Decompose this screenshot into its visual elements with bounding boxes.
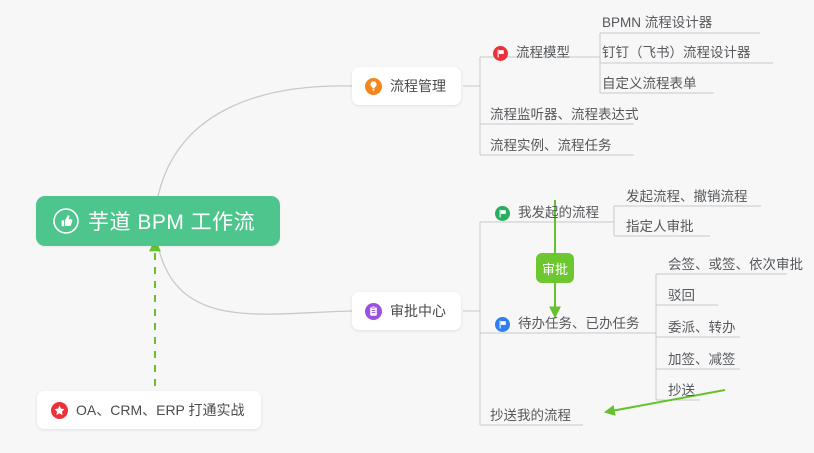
topic-label-start-cancel-process: 发起流程、撤销流程 [626, 190, 748, 204]
branch-node-approval-center[interactable]: 审批中心 [352, 292, 461, 330]
approval-flow-chip: 审批 [536, 253, 574, 283]
topic-process-listener-expression[interactable]: 流程监听器、流程表达式 [490, 104, 639, 126]
topic-label-add-remove-sign: 加签、减签 [668, 353, 736, 367]
edge-root-to-approval [158, 246, 352, 314]
root-node[interactable]: 芋道 BPM 工作流 [36, 196, 280, 246]
edge-root-to-process [158, 86, 352, 196]
topic-label-assignee-approval: 指定人审批 [626, 220, 694, 234]
topic-cc[interactable]: 抄送 [668, 380, 695, 402]
thumbs-up-icon [53, 208, 79, 234]
topic-label-reject: 驳回 [668, 289, 695, 303]
topic-add-remove-sign[interactable]: 加签、减签 [668, 349, 736, 371]
topic-bpmn-designer[interactable]: BPMN 流程设计器 [602, 12, 712, 34]
branch-node-process-management[interactable]: 流程管理 [352, 67, 461, 105]
topic-reject[interactable]: 驳回 [668, 285, 695, 307]
arrow-cc-to-ccme [606, 390, 725, 412]
topic-label-cc: 抄送 [668, 384, 695, 398]
flag-green-icon [495, 206, 510, 221]
approval-flow-chip-label: 审批 [542, 259, 568, 278]
flag-blue-icon [495, 317, 510, 332]
topic-label-todo-done-tasks: 待办任务、已办任务 [518, 317, 640, 331]
topic-dingtalk-feishu-designer[interactable]: 钉钉（飞书）流程设计器 [602, 42, 751, 64]
topic-label-bpmn-designer: BPMN 流程设计器 [602, 16, 712, 30]
topic-custom-process-form[interactable]: 自定义流程表单 [602, 73, 697, 95]
topic-start-cancel-process[interactable]: 发起流程、撤销流程 [626, 186, 748, 208]
lightbulb-icon [365, 78, 382, 95]
topic-label-process-listener-expression: 流程监听器、流程表达式 [490, 108, 639, 122]
clipboard-icon [365, 303, 382, 320]
flag-red-icon [493, 46, 508, 61]
topic-cc-to-me-process[interactable]: 抄送我的流程 [490, 405, 571, 427]
topic-process-model[interactable]: 流程模型 [493, 42, 570, 64]
topic-assignee-approval[interactable]: 指定人审批 [626, 216, 694, 238]
topic-countersign[interactable]: 会签、或签、依次审批 [668, 254, 803, 276]
star-icon [51, 402, 68, 419]
topic-label-custom-process-form: 自定义流程表单 [602, 77, 697, 91]
topic-label-cc-to-me-process: 抄送我的流程 [490, 409, 571, 423]
topic-my-initiated-process[interactable]: 我发起的流程 [495, 202, 599, 224]
branch-label-process-management: 流程管理 [390, 76, 446, 96]
root-label: 芋道 BPM 工作流 [88, 206, 255, 236]
topic-label-my-initiated-process: 我发起的流程 [518, 206, 599, 220]
topic-process-instance-task[interactable]: 流程实例、流程任务 [490, 135, 612, 157]
branch-label-approval-center: 审批中心 [390, 301, 446, 321]
topic-delegate-transfer[interactable]: 委派、转办 [668, 317, 736, 339]
mindmap-canvas: 芋道 BPM 工作流 流程管理 审批中心 [0, 0, 814, 453]
note-card-integration[interactable]: OA、CRM、ERP 打通实战 [37, 391, 261, 429]
topic-label-process-instance-task: 流程实例、流程任务 [490, 139, 612, 153]
topic-label-delegate-transfer: 委派、转办 [668, 321, 736, 335]
topic-label-process-model: 流程模型 [516, 46, 570, 60]
topic-label-countersign: 会签、或签、依次审批 [668, 258, 803, 272]
topic-todo-done-tasks[interactable]: 待办任务、已办任务 [495, 313, 640, 335]
note-card-label: OA、CRM、ERP 打通实战 [76, 400, 245, 420]
topic-label-dingtalk-feishu-designer: 钉钉（飞书）流程设计器 [602, 46, 751, 60]
